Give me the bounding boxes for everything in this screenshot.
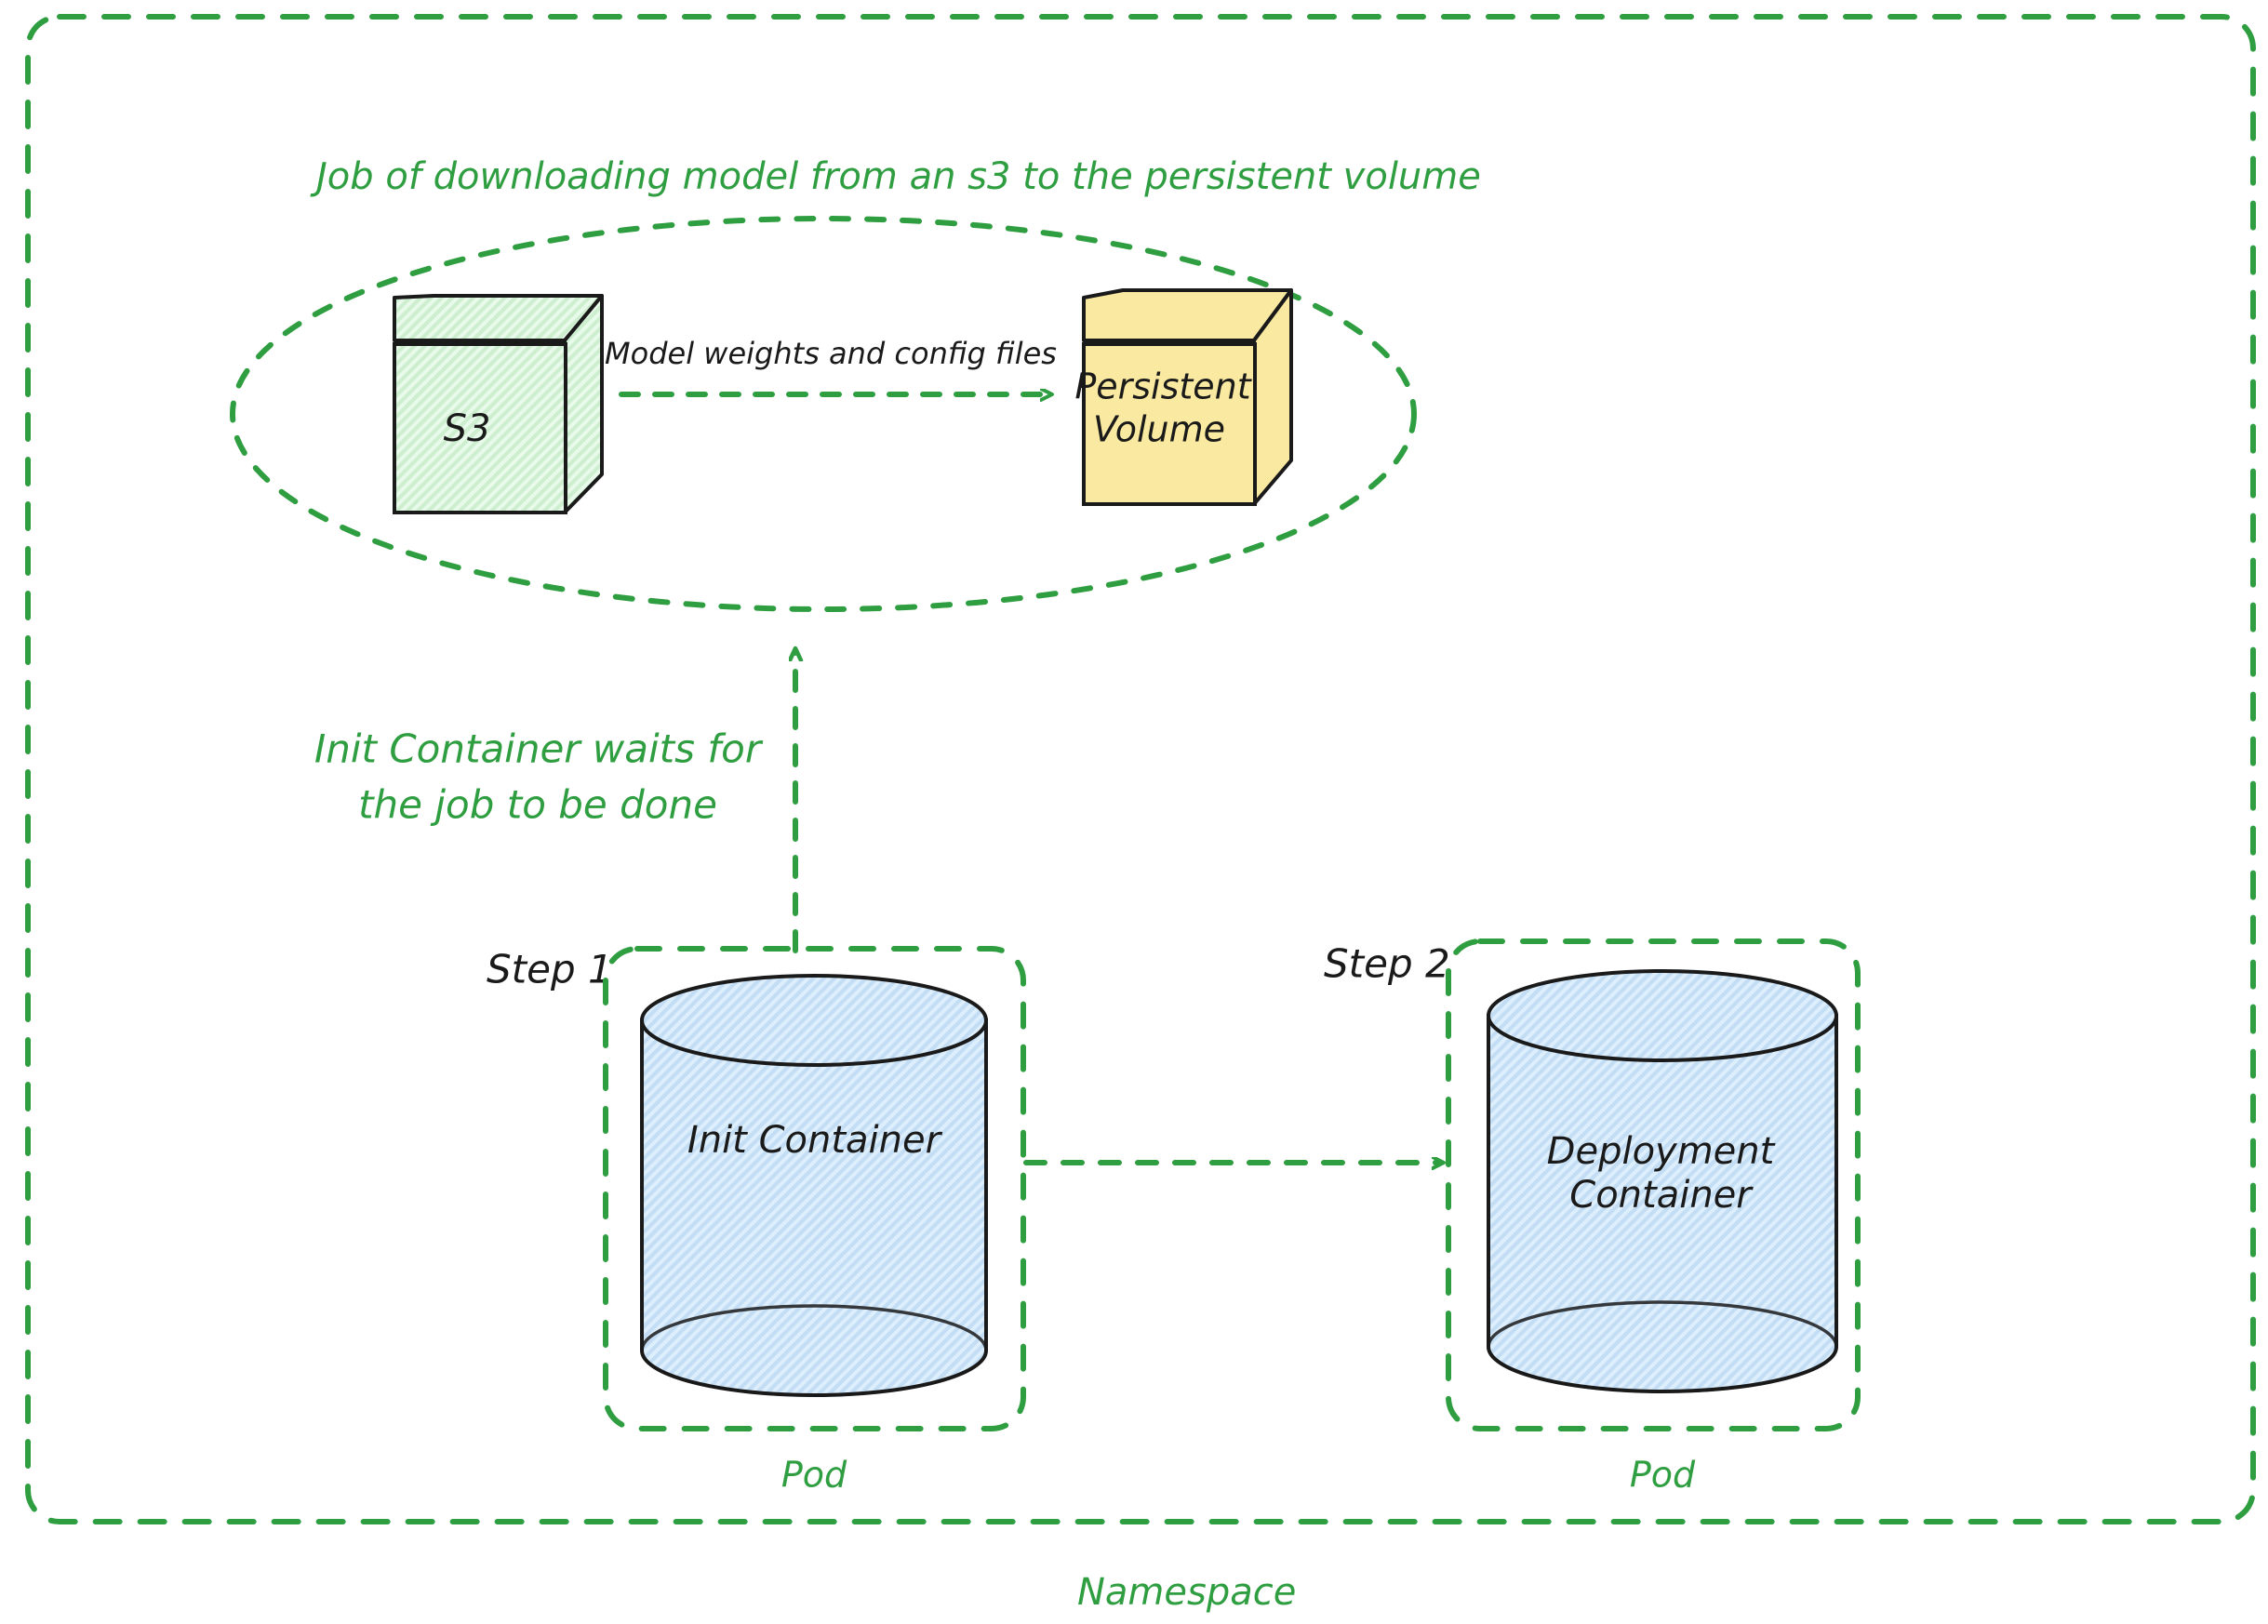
init-container-cylinder: Init Container — [642, 976, 986, 1395]
diagram-canvas: Namespace Job of downloading model from … — [0, 0, 2268, 1624]
step-1-label: Step 1 — [487, 947, 613, 992]
persistent-volume-label-line1: Persistent — [1074, 366, 1252, 407]
init-wait-edge-label-line2: the job to be done — [358, 782, 717, 828]
init-wait-edge-label-line1: Init Container waits for — [314, 726, 764, 772]
persistent-volume-label-line2: Volume — [1093, 409, 1225, 450]
pod-1-label: Pod — [781, 1455, 847, 1496]
deployment-container-cylinder: Deployment Container — [1488, 971, 1836, 1391]
step-2-label: Step 2 — [1324, 941, 1450, 987]
model-transfer-edge-label: Model weights and config files — [605, 336, 1057, 371]
s3-cube: S3 — [394, 296, 602, 512]
init-container-label: Init Container — [687, 1119, 943, 1162]
persistent-volume-cube: Persistent Volume — [1074, 290, 1291, 504]
deployment-container-label-line1: Deployment — [1547, 1130, 1776, 1173]
pod-2-label: Pod — [1630, 1455, 1696, 1496]
kubernetes-architecture-diagram: Namespace Job of downloading model from … — [0, 0, 2268, 1624]
job-group-label: Job of downloading model from an s3 to t… — [310, 155, 1481, 198]
deployment-container-label-line2: Container — [1569, 1174, 1754, 1217]
s3-cube-label: S3 — [444, 407, 491, 450]
namespace-label: Namespace — [1077, 1571, 1296, 1614]
